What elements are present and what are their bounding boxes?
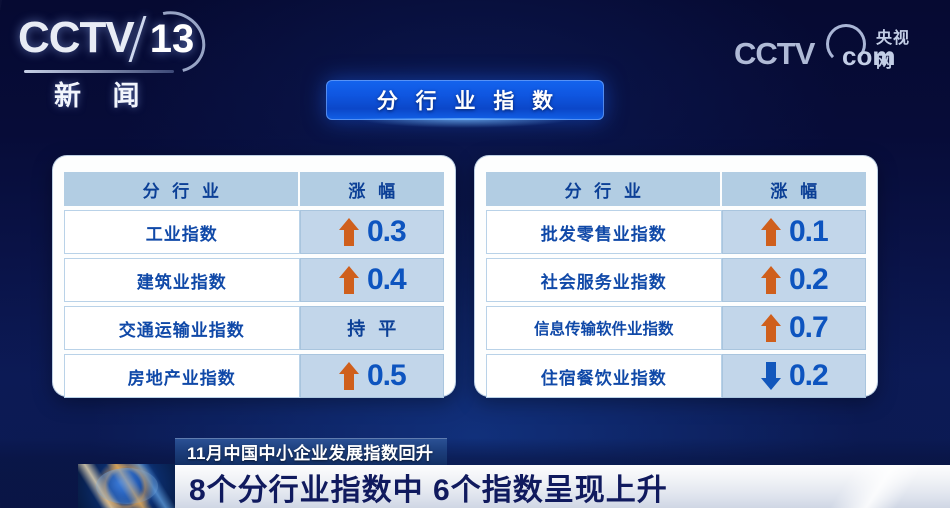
logo-underline xyxy=(24,70,174,73)
table-header-row: 分 行 业 涨 幅 xyxy=(486,172,866,206)
change-number: 0.7 xyxy=(789,313,828,343)
change-value-cell: 持 平 xyxy=(300,306,444,350)
change-value-cell: 0.2 xyxy=(722,258,866,302)
arrow-up-icon xyxy=(338,265,360,295)
chart-title-banner: 分 行 业 指 数 xyxy=(326,80,604,120)
globe-graphic xyxy=(78,464,176,508)
change-number: 0.5 xyxy=(367,361,406,391)
column-header-change: 涨 幅 xyxy=(300,172,444,206)
change-number: 0.4 xyxy=(367,265,406,295)
change-value-cell: 0.2 xyxy=(722,354,866,398)
change-value-cell: 0.7 xyxy=(722,306,866,350)
arrow-up-icon xyxy=(760,217,782,247)
table-row: 住宿餐饮业指数0.2 xyxy=(486,354,866,398)
table-row: 社会服务业指数0.2 xyxy=(486,258,866,302)
table-row: 房地产业指数0.5 xyxy=(64,354,444,398)
chart-title-text: 分 行 业 指 数 xyxy=(371,85,559,115)
table-row: 交通运输业指数持 平 xyxy=(64,306,444,350)
column-header-change: 涨 幅 xyxy=(722,172,866,206)
industry-name-cell: 社会服务业指数 xyxy=(486,258,722,302)
industry-name-cell: 工业指数 xyxy=(64,210,300,254)
headline-text: 8个分行业指数中 6个指数呈现上升 xyxy=(189,465,668,508)
industry-index-table-left: 分 行 业 涨 幅 工业指数0.3建筑业指数0.4交通运输业指数持 平房地产业指… xyxy=(64,168,444,402)
column-header-industry: 分 行 业 xyxy=(64,172,300,206)
channel-subtitle: 新 闻 xyxy=(54,74,152,113)
change-number: 0.2 xyxy=(789,361,828,391)
industry-name-cell: 信息传输软件业指数 xyxy=(486,306,722,350)
flat-label: 持 平 xyxy=(343,315,400,341)
industry-name-cell: 建筑业指数 xyxy=(64,258,300,302)
industry-index-panel-left: 分 行 业 涨 幅 工业指数0.3建筑业指数0.4交通运输业指数持 平房地产业指… xyxy=(53,156,455,396)
change-value-cell: 0.1 xyxy=(722,210,866,254)
table-row: 工业指数0.3 xyxy=(64,210,444,254)
column-header-industry: 分 行 业 xyxy=(486,172,722,206)
change-number: 0.2 xyxy=(789,265,828,295)
industry-name-cell: 交通运输业指数 xyxy=(64,306,300,350)
cctv13-channel-logo: CCTV13 新 闻 xyxy=(18,16,238,102)
cctv-wordmark: CCTV xyxy=(18,16,134,60)
lower-third-headline-bar: 8个分行业指数中 6个指数呈现上升 xyxy=(175,465,950,508)
change-value-cell: 0.4 xyxy=(300,258,444,302)
arrow-down-icon xyxy=(760,361,782,391)
cctv-com-logo: CCTV com 央视网 xyxy=(734,22,924,76)
arrow-up-icon xyxy=(760,313,782,343)
table-row: 建筑业指数0.4 xyxy=(64,258,444,302)
broadcast-screen: CCTV13 新 闻 CCTV com 央视网 分 行 业 指 数 分 行 业 … xyxy=(0,0,950,508)
industry-name-cell: 房地产业指数 xyxy=(64,354,300,398)
arrow-up-icon xyxy=(760,265,782,295)
industry-name-cell: 住宿餐饮业指数 xyxy=(486,354,722,398)
cctv-com-chinese-name: 央视网 xyxy=(876,24,924,72)
kicker-text: 11月中国中小企业发展指数回升 xyxy=(187,439,433,464)
change-value-cell: 0.3 xyxy=(300,210,444,254)
table-row: 信息传输软件业指数0.7 xyxy=(486,306,866,350)
arrow-up-icon xyxy=(338,217,360,247)
change-value-cell: 0.5 xyxy=(300,354,444,398)
change-number: 0.1 xyxy=(789,217,828,247)
industry-index-table-right: 分 行 业 涨 幅 批发零售业指数0.1社会服务业指数0.2信息传输软件业指数0… xyxy=(486,168,866,402)
cctv-com-wordmark: CCTV xyxy=(734,38,814,69)
lower-third-kicker: 11月中国中小企业发展指数回升 xyxy=(175,438,447,465)
industry-name-cell: 批发零售业指数 xyxy=(486,210,722,254)
industry-index-panel-right: 分 行 业 涨 幅 批发零售业指数0.1社会服务业指数0.2信息传输软件业指数0… xyxy=(475,156,877,396)
change-number: 0.3 xyxy=(367,217,406,247)
arrow-up-icon xyxy=(338,361,360,391)
lower-third: 11月中国中小企业发展指数回升 8个分行业指数中 6个指数呈现上升 xyxy=(0,438,950,508)
table-header-row: 分 行 业 涨 幅 xyxy=(64,172,444,206)
table-row: 批发零售业指数0.1 xyxy=(486,210,866,254)
